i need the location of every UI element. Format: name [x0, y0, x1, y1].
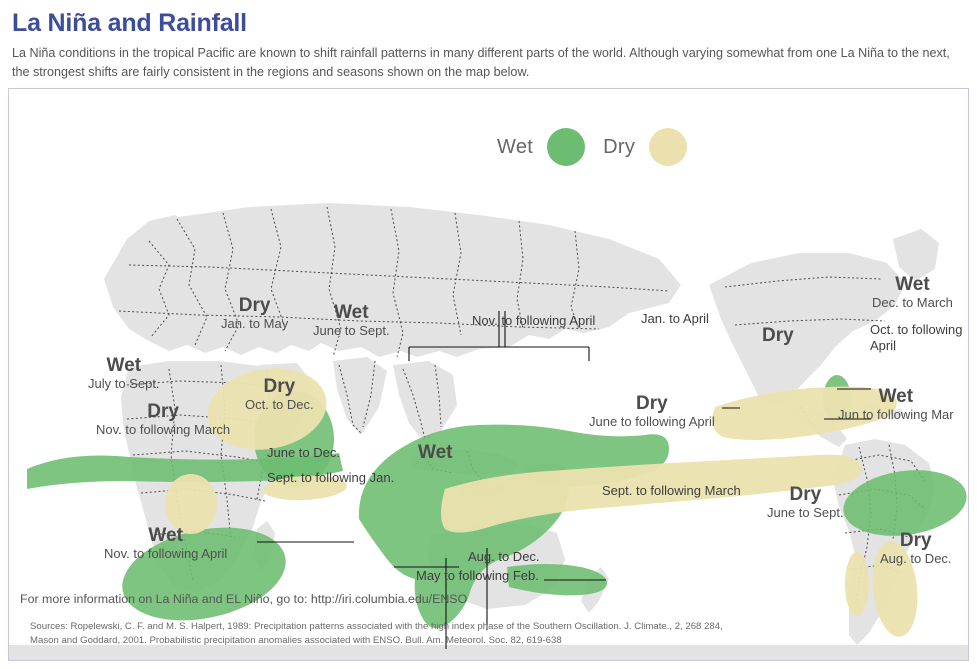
- annotation-season: Dec. to March: [872, 295, 953, 311]
- annotation-southern-africa: Wet Nov. to following April: [104, 525, 227, 562]
- leader-label-australia-south: May to following Feb.: [416, 568, 539, 584]
- legend-swatch-wet-icon: [547, 128, 585, 166]
- annotation-north-south-america: Wet Jun to following Mar: [838, 386, 954, 423]
- annotation-season: Jun to following Mar: [838, 407, 954, 423]
- annotation-title: Dry: [96, 401, 230, 422]
- leader-label-us-southwest: Jan. to April: [641, 311, 709, 327]
- annotation-central-pacific: Dry June to following April: [589, 393, 715, 430]
- annotation-ne-north-america: Wet Dec. to March: [872, 274, 953, 311]
- sources-line-2: Mason and Goddard, 2001. Probabilistic p…: [30, 634, 930, 648]
- annotation-title: Dry: [221, 295, 288, 316]
- map-legend: Wet Dry: [497, 128, 687, 166]
- dry-region-nw-south-america: [845, 552, 869, 616]
- legend-label-wet: Wet: [497, 136, 533, 159]
- annotation-season: Nov. to following March: [96, 422, 230, 438]
- leader-label-central-pacific: Nov. to following April: [472, 313, 595, 329]
- legend-entry-dry: Dry: [603, 128, 687, 166]
- annotation-season: June to following April: [589, 414, 715, 430]
- legend-swatch-dry-icon: [649, 128, 687, 166]
- annotation-nw-south-america: Dry June to Sept.: [767, 484, 844, 521]
- annotation-title: Wet: [313, 302, 390, 323]
- annotation-maritime-se-asia: Wet: [418, 442, 452, 463]
- annotation-se-south-america: Dry Aug. to Dec.: [880, 530, 952, 567]
- page-title: La Niña and Rainfall: [12, 8, 963, 38]
- annotation-title: Wet: [104, 525, 227, 546]
- legend-label-dry: Dry: [603, 136, 635, 159]
- annotation-title: Wet: [418, 442, 452, 463]
- annotation-title: Wet: [838, 386, 954, 407]
- legend-entry-wet: Wet: [497, 128, 585, 166]
- leader-label-philippines: June to Dec.: [267, 445, 340, 461]
- annotation-title: Dry: [880, 530, 952, 551]
- annotation-title: Dry: [762, 325, 794, 346]
- leader-label-us-southeast: Oct. to following April: [870, 322, 977, 354]
- leader-label-indonesia: Sept. to following Jan.: [267, 470, 394, 486]
- annotation-title: Dry: [767, 484, 844, 505]
- annotation-title: Wet: [88, 355, 160, 376]
- sources-block: Sources: Ropelewski, C. F. and M. S. Hal…: [30, 620, 930, 648]
- annotation-season: July to Sept.: [88, 376, 160, 392]
- annotation-sahel-north: Dry Jan. to May: [221, 295, 288, 332]
- annotation-west-africa: Wet July to Sept.: [88, 355, 160, 392]
- annotation-season: Jan. to May: [221, 316, 288, 332]
- leader-label-australia-north: Aug. to Dec.: [468, 549, 540, 565]
- annotation-season: Nov. to following April: [104, 546, 227, 562]
- more-info-text: For more information on La Niña and EL N…: [20, 592, 467, 606]
- annotation-east-africa-dry: Dry Nov. to following March: [96, 401, 230, 438]
- annotation-north-america: Dry: [762, 325, 794, 346]
- annotation-india-monsoon: Wet June to Sept.: [313, 302, 390, 339]
- leader-label-eastern-australia: Sept. to following March: [602, 483, 741, 499]
- annotation-title: Dry: [245, 376, 314, 397]
- annotation-season: Oct. to Dec.: [245, 397, 314, 413]
- intro-paragraph: La Niña conditions in the tropical Pacif…: [12, 44, 960, 82]
- annotation-season: June to Sept.: [767, 505, 844, 521]
- annotation-title: Dry: [589, 393, 715, 414]
- annotation-season: Aug. to Dec.: [880, 551, 952, 567]
- annotation-title: Wet: [872, 274, 953, 295]
- annotation-horn-of-africa: Dry Oct. to Dec.: [245, 376, 314, 413]
- page-header: La Niña and Rainfall La Niña conditions …: [0, 0, 977, 88]
- sources-line-1: Sources: Ropelewski, C. F. and M. S. Hal…: [30, 620, 930, 634]
- annotation-season: June to Sept.: [313, 323, 390, 339]
